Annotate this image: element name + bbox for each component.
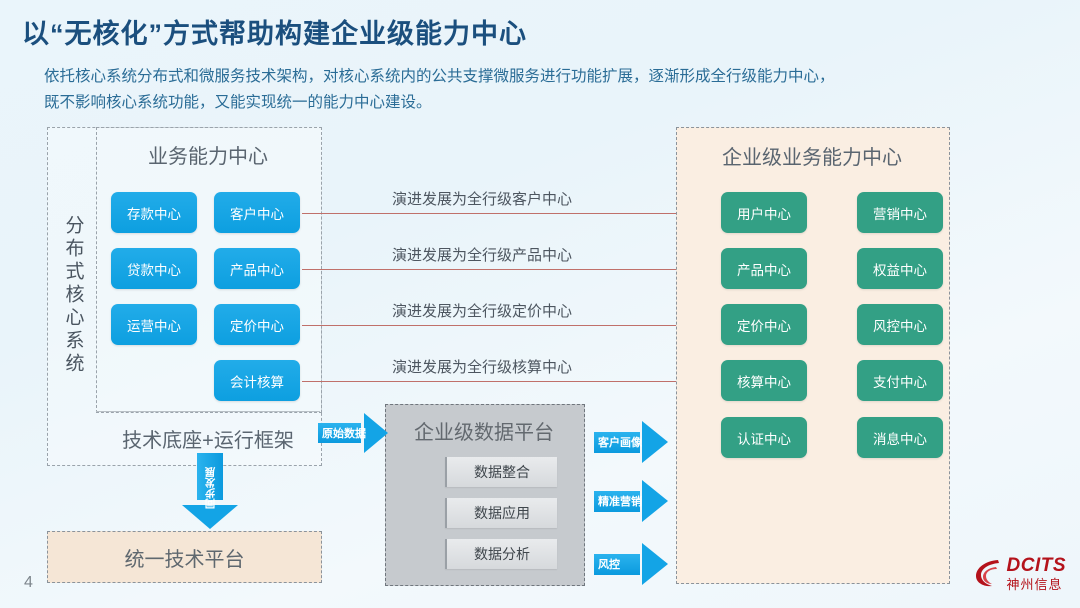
logo-en-text: DCITS: [1007, 556, 1067, 575]
green-pill-marketing-center[interactable]: 营销中心: [857, 192, 943, 233]
green-pill-pricing-center[interactable]: 定价中心: [721, 304, 807, 345]
enterprise-capability-center-title: 企业级业务能力中心: [676, 141, 948, 170]
output-arrow-label-2: 精准营销: [598, 493, 642, 509]
green-pill-risk-center[interactable]: 风控中心: [857, 304, 943, 345]
output-arrow-label-3: 风控: [598, 556, 620, 572]
logo-text: DCITS 神州信息: [1007, 556, 1067, 591]
business-capability-center-title: 业务能力中心: [96, 140, 320, 169]
blue-pill-pricing-center[interactable]: 定价中心: [214, 304, 300, 345]
enterprise-data-platform-title: 企业级数据平台: [385, 416, 583, 445]
swoosh-icon: [972, 557, 1002, 589]
page-number: 4: [24, 574, 33, 592]
blue-pill-operation-center[interactable]: 运营中心: [111, 304, 197, 345]
subtitle-line-2: 既不影响核心系统功能，又能实现统一的能力中心建设。: [44, 90, 984, 116]
evolution-label-4: 演进发展为全行级核算中心: [392, 356, 572, 377]
blue-pill-product-center[interactable]: 产品中心: [214, 248, 300, 289]
output-arrow-head: [642, 543, 668, 585]
evolution-line-4: [302, 381, 720, 382]
data-platform-item-analysis[interactable]: 数据分析: [445, 539, 557, 569]
dcits-logo: DCITS 神州信息: [972, 552, 1067, 594]
green-pill-accounting-center[interactable]: 核算中心: [721, 360, 807, 401]
green-pill-user-center[interactable]: 用户中心: [721, 192, 807, 233]
output-arrow-risk-control: 风控: [594, 543, 668, 585]
subtitle-line-1: 依托核心系统分布式和微服务技术架构，对核心系统内的公共支撑微服务进行功能扩展，逐…: [44, 64, 984, 90]
green-pill-message-center[interactable]: 消息中心: [857, 417, 943, 458]
slide-root: 以“无核化”方式帮助构建企业级能力中心 依托核心系统分布式和微服务技术架构，对核…: [0, 0, 1080, 608]
data-platform-item-integration[interactable]: 数据整合: [445, 457, 557, 487]
logo-cn-text: 神州信息: [1007, 578, 1067, 591]
output-arrow-customer-profile: 客户画像: [594, 421, 668, 463]
distributed-core-system-label: 分布式核心系统: [52, 175, 94, 415]
data-platform-item-application[interactable]: 数据应用: [445, 498, 557, 528]
unified-tech-platform: 统一技术平台: [47, 531, 322, 583]
blue-pill-accounting[interactable]: 会计核算: [214, 360, 300, 401]
sync-development-arrow-label: 同步发展: [203, 467, 218, 509]
blue-pill-deposit-center[interactable]: 存款中心: [111, 192, 197, 233]
sync-development-arrow: 同步发展: [182, 453, 238, 529]
blue-pill-loan-center[interactable]: 贷款中心: [111, 248, 197, 289]
page-subtitle: 依托核心系统分布式和微服务技术架构，对核心系统内的公共支撑微服务进行功能扩展，逐…: [44, 64, 984, 116]
output-arrow-head: [642, 480, 668, 522]
evolution-label-3: 演进发展为全行级定价中心: [392, 300, 572, 321]
raw-data-arrow: 原始数据: [318, 413, 388, 453]
green-pill-rights-center[interactable]: 权益中心: [857, 248, 943, 289]
evolution-label-1: 演进发展为全行级客户中心: [392, 188, 572, 209]
output-arrow-label-1: 客户画像: [598, 434, 642, 450]
evolution-line-2: [302, 269, 720, 270]
blue-pill-customer-center[interactable]: 客户中心: [214, 192, 300, 233]
output-arrow-head: [642, 421, 668, 463]
green-pill-product-center[interactable]: 产品中心: [721, 248, 807, 289]
raw-data-arrow-head: [364, 413, 388, 453]
green-pill-auth-center[interactable]: 认证中心: [721, 417, 807, 458]
green-pill-payment-center[interactable]: 支付中心: [857, 360, 943, 401]
evolution-line-3: [302, 325, 720, 326]
page-title: 以“无核化”方式帮助构建企业级能力中心: [22, 12, 527, 51]
evolution-label-2: 演进发展为全行级产品中心: [392, 244, 572, 265]
evolution-line-1: [302, 213, 720, 214]
raw-data-arrow-label: 原始数据: [322, 425, 366, 441]
output-arrow-precision-marketing: 精准营销: [594, 480, 668, 522]
